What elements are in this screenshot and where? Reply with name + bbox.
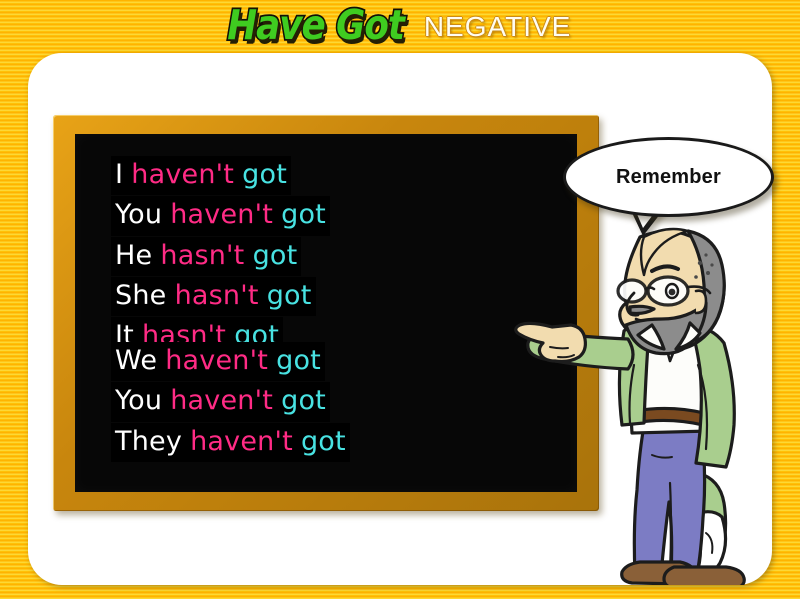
auxiliary: haven't [170, 385, 273, 416]
pronoun: He [115, 240, 152, 271]
verb: got [253, 240, 298, 271]
conjugation-line: Youhaven'tgot [111, 382, 330, 421]
conjugation-line: Hehasn'tgot [111, 237, 301, 276]
teacher-character-icon [512, 215, 782, 585]
pronoun: You [115, 385, 162, 416]
pronoun: They [115, 426, 182, 457]
pronoun: She [115, 280, 166, 311]
pronoun: I [115, 159, 123, 190]
speech-bubble: Remember [563, 137, 774, 217]
verb: got [301, 426, 346, 457]
speech-bubble-label: Remember [616, 166, 721, 189]
auxiliary: hasn't [160, 240, 244, 271]
verb: got [276, 345, 321, 376]
slide-root: Have Got NEGATIVE Ihaven'tgot Youhaven't… [0, 0, 800, 599]
verb: got [242, 159, 287, 190]
conjugation-group-singular: Ihaven'tgot Youhaven'tgot Hehasn'tgot Sh… [111, 156, 330, 358]
verb: got [267, 280, 312, 311]
conjugation-line: Youhaven'tgot [111, 196, 330, 235]
auxiliary: haven't [131, 159, 234, 190]
verb: got [281, 385, 326, 416]
page-title: Have Got [227, 6, 404, 47]
conjugation-line: Ihaven'tgot [111, 156, 291, 195]
conjugation-line: Wehaven'tgot [111, 342, 325, 381]
conjugation-line: Theyhaven'tgot [111, 423, 350, 462]
conjugation-line: Shehasn'tgot [111, 277, 316, 316]
pronoun: You [115, 199, 162, 230]
blackboard-surface: Ihaven'tgot Youhaven'tgot Hehasn'tgot Sh… [75, 134, 577, 492]
auxiliary: hasn't [175, 280, 259, 311]
auxiliary: haven't [190, 426, 293, 457]
auxiliary: haven't [170, 199, 273, 230]
pronoun: We [115, 345, 157, 376]
auxiliary: haven't [165, 345, 268, 376]
verb: got [281, 199, 326, 230]
title-bar: Have Got NEGATIVE [0, 0, 800, 53]
conjugation-group-plural: Wehaven'tgot Youhaven'tgot Theyhaven'tgo… [111, 342, 350, 463]
page-subtitle: NEGATIVE [424, 13, 572, 41]
